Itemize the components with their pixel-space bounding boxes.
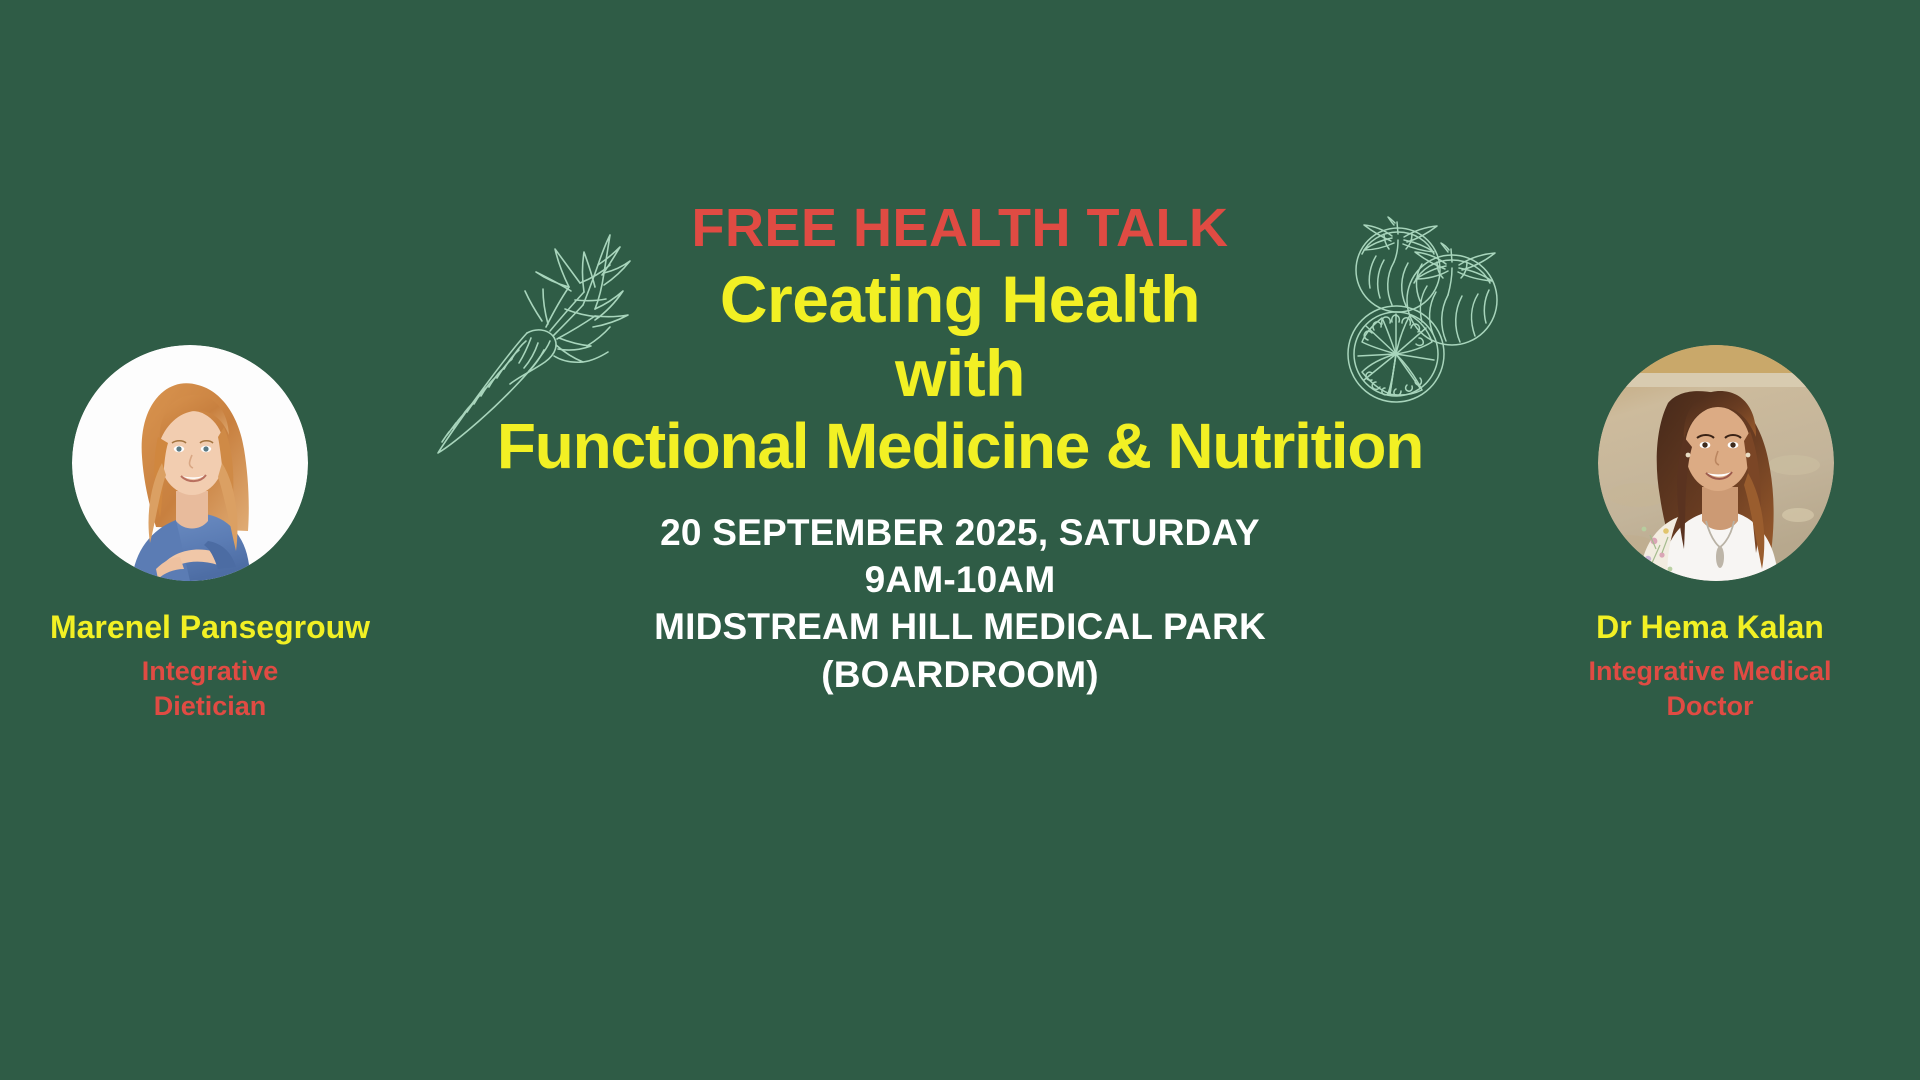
speaker-role-right-line-1: Integrative Medical bbox=[1500, 654, 1920, 690]
title-line-3: Functional Medicine & Nutrition bbox=[460, 411, 1460, 483]
speaker-card-right: Dr Hema Kalan Integrative Medical Doctor bbox=[1500, 345, 1920, 725]
avatar-dr-hema-kalan bbox=[1598, 345, 1834, 581]
detail-venue: MIDSTREAM HILL MEDICAL PARK bbox=[460, 603, 1460, 650]
title-line-2: with bbox=[460, 337, 1460, 411]
detail-room: (BOARDROOM) bbox=[460, 651, 1460, 698]
speaker-role-left-line-2: Dietician bbox=[0, 689, 420, 725]
speaker-name-right: Dr Hema Kalan bbox=[1500, 610, 1920, 646]
poster-canvas: FREE HEALTH TALK Creating Health with Fu… bbox=[0, 0, 1920, 1080]
page-title: Creating Health with Functional Medicine… bbox=[460, 263, 1460, 482]
detail-date-day: 20 SEPTEMBER 2025, SATURDAY bbox=[460, 509, 1460, 556]
event-details: 20 SEPTEMBER 2025, SATURDAY 9AM-10AM MID… bbox=[460, 509, 1460, 698]
avatar-marenel-pansegrouw bbox=[72, 345, 308, 581]
speaker-name-left: Marenel Pansegrouw bbox=[0, 610, 420, 646]
speaker-role-right: Integrative Medical Doctor bbox=[1500, 654, 1920, 725]
title-line-1: Creating Health bbox=[460, 263, 1460, 337]
speaker-role-right-line-2: Doctor bbox=[1500, 689, 1920, 725]
speaker-role-left: Integrative Dietician bbox=[0, 654, 420, 725]
speaker-card-left: Marenel Pansegrouw Integrative Dietician bbox=[0, 345, 420, 725]
headline-block: FREE HEALTH TALK Creating Health with Fu… bbox=[460, 200, 1460, 698]
speaker-role-left-line-1: Integrative bbox=[0, 654, 420, 690]
eyebrow-title: FREE HEALTH TALK bbox=[460, 200, 1460, 257]
detail-time: 9AM-10AM bbox=[460, 556, 1460, 603]
